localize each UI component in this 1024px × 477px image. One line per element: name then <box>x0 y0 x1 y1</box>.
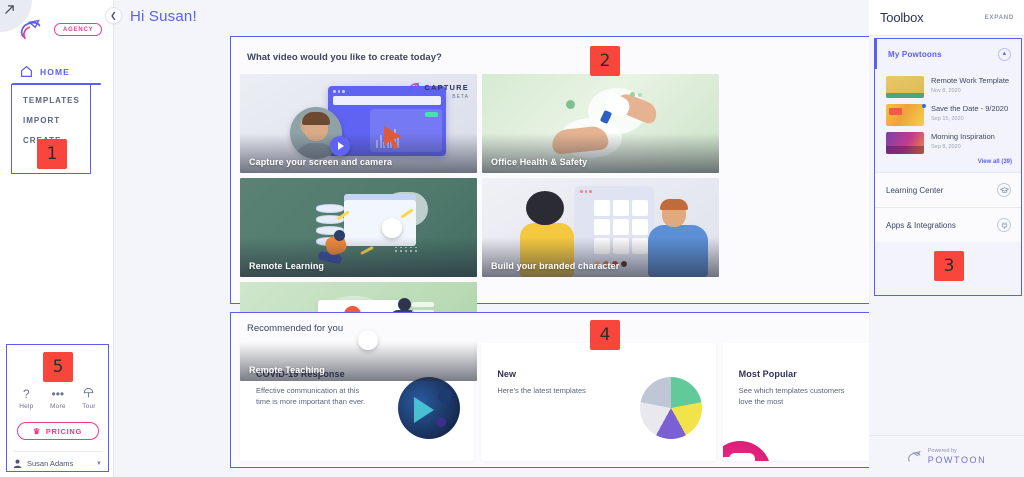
card-gradient-overlay <box>482 133 719 173</box>
create-panel-header: What video would you like to create toda… <box>231 37 869 66</box>
card-gradient-overlay <box>240 341 477 381</box>
play-icon[interactable] <box>358 330 378 350</box>
crown-icon: ♛ <box>33 427 41 436</box>
tour-button[interactable]: Tour <box>82 387 95 410</box>
recommended-panel: Recommended for you COVID-19 Response Ef… <box>230 312 869 468</box>
powtoon-date: Sep 15, 2020 <box>931 116 1013 122</box>
powtoon-name: Morning Inspiration <box>931 132 1013 142</box>
agency-badge: AGENCY <box>54 23 102 36</box>
annotation-badge-5: 5 <box>43 352 73 382</box>
ellipsis-icon: ••• <box>52 387 65 400</box>
video-card-remote-learning[interactable]: Remote Learning <box>240 178 477 277</box>
sidebar-item-import[interactable]: IMPORT <box>23 116 90 125</box>
home-icon <box>20 65 33 78</box>
toolbox-title: Toolbox <box>880 10 923 25</box>
remote-work-thumbnail <box>886 76 924 98</box>
video-card-branded-character[interactable]: Build your branded character <box>482 178 719 277</box>
left-sidebar: AGENCY ❮ HOME TEMPLATES IMPORT CREATE 1 … <box>0 0 114 477</box>
play-icon[interactable] <box>330 136 350 156</box>
chevron-down-icon: ▼ <box>96 461 102 467</box>
recommended-card-popular[interactable]: Most Popular See which templates custome… <box>723 343 869 461</box>
page-title: Hi Susan! <box>114 0 869 25</box>
my-powtoons-list: Remote Work Template Nov 8, 2020 Save th… <box>875 69 1021 172</box>
sidebar-item-home[interactable]: HOME <box>20 65 113 78</box>
capture-beta-label: BETA <box>408 94 469 100</box>
powtoon-name: Remote Work Template <box>931 76 1013 86</box>
recommended-card-new[interactable]: New Here's the latest templates <box>481 343 715 461</box>
toolbox-header: Toolbox EXPAND <box>869 0 1024 36</box>
user-menu[interactable]: Susan Adams ▼ <box>13 451 102 468</box>
video-card-remote-learning-label: Remote Learning <box>249 261 324 271</box>
play-icon[interactable] <box>382 218 402 238</box>
recommended-title: Recommended for you <box>231 313 869 334</box>
powtoon-date: Nov 8, 2020 <box>931 88 1013 94</box>
video-card-office-health[interactable]: Office Health & Safety <box>482 74 719 173</box>
video-card-capture[interactable]: CAPTURE BETA <box>240 74 477 173</box>
covid-globe-thumbnail <box>398 377 460 439</box>
annotation-box-toolbox: My Powtoons ▲ Remote Work Template Nov 8… <box>874 38 1022 296</box>
user-name: Susan Adams <box>27 459 73 468</box>
powtoon-date: Sep 8, 2020 <box>931 144 1013 150</box>
sidebar-item-templates[interactable]: TEMPLATES <box>23 96 90 105</box>
unread-dot <box>922 104 926 108</box>
view-all-link[interactable]: View all (39) <box>875 157 1021 172</box>
card-gradient-overlay <box>240 237 477 277</box>
card-gradient-overlay <box>482 237 719 277</box>
toolbox-expand-button[interactable]: EXPAND <box>985 15 1014 21</box>
video-card-branded-character-label: Build your branded character <box>491 261 619 271</box>
sidebar-item-home-label: HOME <box>40 67 70 77</box>
recommended-card-popular-desc: See which templates customers love the m… <box>723 379 851 407</box>
card-gradient-overlay <box>240 133 477 173</box>
list-item[interactable]: Save the Date - 9/2020 Sep 15, 2020 <box>875 101 1021 129</box>
powtoon-logo-icon <box>907 450 923 464</box>
video-card-office-health-label: Office Health & Safety <box>491 157 587 167</box>
save-the-date-thumbnail <box>886 104 924 126</box>
main-content: Hi Susan! What video would you like to c… <box>114 0 869 477</box>
annotation-badge-1: 1 <box>37 139 67 169</box>
capture-brand: CAPTURE BETA <box>408 82 469 100</box>
powtoon-name: Save the Date - 9/2020 <box>931 104 1013 114</box>
pricing-label: PRICING <box>46 427 82 436</box>
capture-logo-text: CAPTURE <box>424 83 469 92</box>
avatar-icon <box>13 459 22 468</box>
create-panel-title: What video would you like to create toda… <box>247 52 442 63</box>
video-card-remote-teaching-label: Remote Teaching <box>249 365 325 375</box>
recommended-card-covid-desc: Effective communication at this time is … <box>240 379 368 407</box>
toolbox-row-apps-integrations[interactable]: Apps & Integrations <box>875 207 1021 242</box>
apps-integrations-label: Apps & Integrations <box>886 221 956 230</box>
powtoon-brand-label: POWTOON <box>928 455 987 465</box>
sidebar-collapse-button[interactable]: ❮ <box>105 7 122 24</box>
question-mark-icon: ? <box>23 387 30 400</box>
cursor-arrow-icon <box>382 124 406 150</box>
my-powtoons-label: My Powtoons <box>888 50 942 59</box>
resize-arrow-icon <box>4 4 15 15</box>
chevron-left-icon: ❮ <box>110 11 117 20</box>
more-label: More <box>50 403 66 410</box>
toolbox-panel: Toolbox EXPAND My Powtoons ▲ Remote Work… <box>869 0 1024 477</box>
toolbox-footer: Powered by POWTOON <box>869 435 1024 477</box>
umbrella-icon <box>83 387 94 400</box>
list-item[interactable]: Morning Inspiration Sep 8, 2020 <box>875 129 1021 157</box>
thumbs-up-thumbnail <box>723 441 771 461</box>
sidebar-nav-list: TEMPLATES IMPORT CREATE <box>12 85 90 145</box>
my-powtoons-section-header[interactable]: My Powtoons ▲ <box>875 39 1021 69</box>
recommended-card-new-desc: Here's the latest templates <box>481 379 609 396</box>
plug-icon <box>997 218 1011 232</box>
pricing-button[interactable]: ♛ PRICING <box>17 422 99 440</box>
new-templates-thumbnail <box>640 377 702 439</box>
annotation-badge-2: 2 <box>590 46 620 76</box>
morning-inspiration-thumbnail <box>886 132 924 154</box>
tour-label: Tour <box>82 403 95 410</box>
video-card-capture-label: Capture your screen and camera <box>249 157 392 167</box>
chevron-up-icon[interactable]: ▲ <box>998 48 1011 61</box>
list-item[interactable]: Remote Work Template Nov 8, 2020 <box>875 73 1021 101</box>
powtoon-dashboard: AGENCY ❮ HOME TEMPLATES IMPORT CREATE 1 … <box>0 0 1024 477</box>
toolbox-row-learning-center[interactable]: Learning Center <box>875 172 1021 207</box>
annotation-box-footer: 5 ? Help ••• More Tour ♛ <box>6 344 109 472</box>
capture-logo-icon <box>408 82 421 93</box>
powered-by-label: Powered by <box>928 448 987 455</box>
graduation-cap-icon <box>997 183 1011 197</box>
annotation-badge-4: 4 <box>590 320 620 350</box>
more-button[interactable]: ••• More <box>50 387 66 410</box>
recommended-card-popular-title: Most Popular <box>723 343 869 379</box>
help-label: Help <box>19 403 33 410</box>
annotation-box-nav: TEMPLATES IMPORT CREATE 1 <box>11 84 91 174</box>
help-button[interactable]: ? Help <box>19 387 33 410</box>
learning-center-label: Learning Center <box>886 186 943 195</box>
annotation-badge-3: 3 <box>934 251 964 281</box>
create-video-panel: What video would you like to create toda… <box>230 36 869 304</box>
